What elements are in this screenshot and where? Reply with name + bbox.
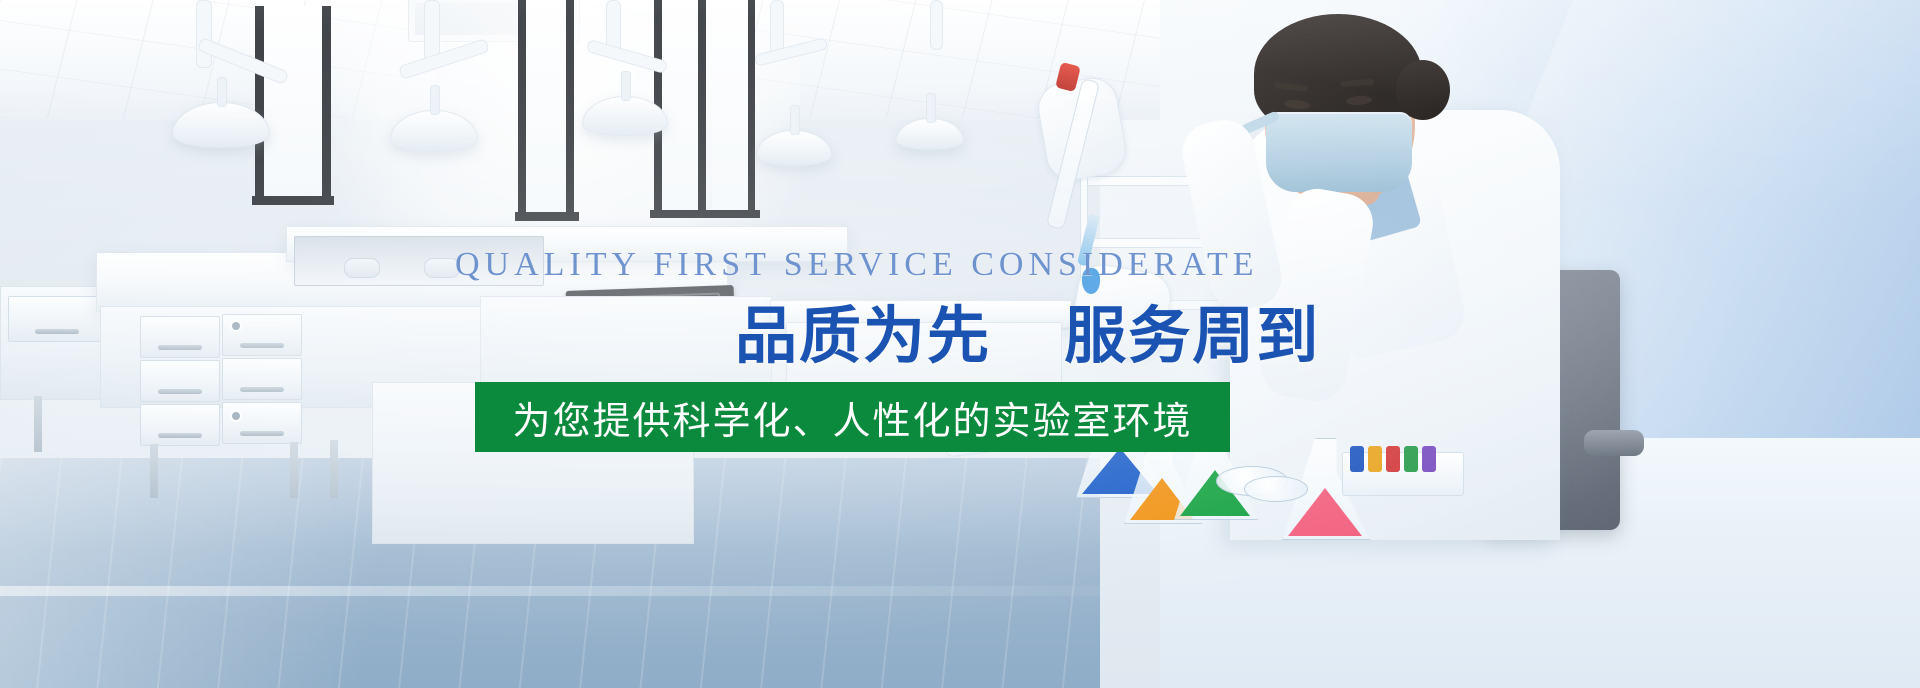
banner-subtitle-text: 为您提供科学化、人性化的实验室环境	[512, 390, 1192, 445]
hero-banner: QUALITY FIRST SERVICE CONSIDERATE 品质为先 服…	[0, 0, 1920, 688]
banner-copy: QUALITY FIRST SERVICE CONSIDERATE 品质为先 服…	[0, 0, 1920, 688]
headline-part-1: 品质为先	[735, 299, 991, 372]
banner-eyebrow-english: QUALITY FIRST SERVICE CONSIDERATE	[455, 248, 1259, 282]
banner-headline: 品质为先 服务周到	[735, 305, 1320, 367]
banner-subtitle-band: 为您提供科学化、人性化的实验室环境	[475, 382, 1230, 452]
headline-part-2: 服务周到	[1064, 299, 1320, 372]
